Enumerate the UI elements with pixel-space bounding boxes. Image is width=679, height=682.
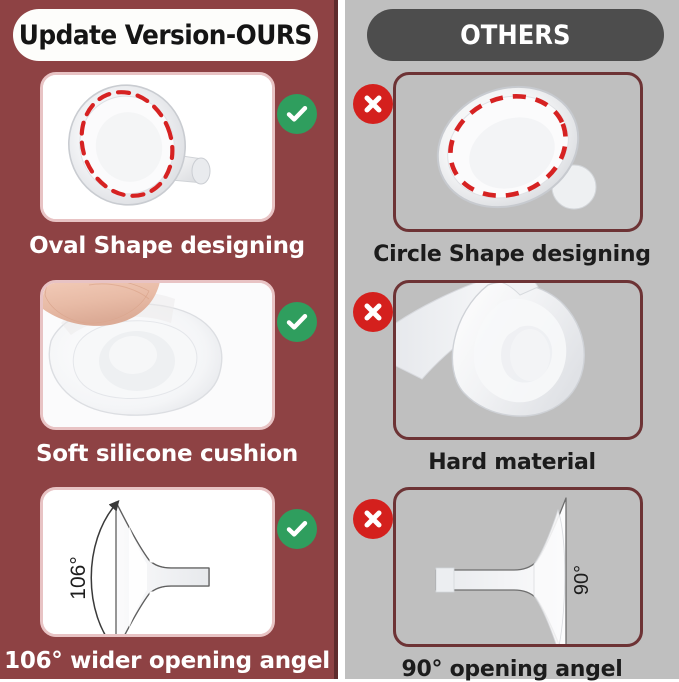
cross-badge (353, 292, 393, 332)
ours-row-1: Oval Shape designing (0, 72, 334, 259)
check-badge (277, 94, 317, 134)
others-card-1-wrap (345, 72, 679, 232)
ours-image-card-3: 106° (40, 487, 275, 637)
others-row-2: Hard material (345, 280, 679, 475)
ours-image-card-2 (40, 280, 275, 430)
others-card-2-wrap (345, 280, 679, 440)
others-header-label: OTHERS (460, 20, 570, 51)
oval-flange-photo (43, 75, 272, 219)
ours-row-3: 106° 106° wider opening angel (0, 487, 334, 674)
check-badge (277, 509, 317, 549)
ours-header-label: Update Version-OURS (19, 20, 312, 51)
others-image-card-2 (393, 280, 643, 440)
ours-card-3-wrap: 106° (0, 487, 334, 637)
ours-header-pill: Update Version-OURS (13, 9, 318, 61)
ours-row-2: Soft silicone cushion (0, 280, 334, 467)
others-header-pill: OTHERS (367, 9, 664, 61)
others-row-1: Circle Shape designing (345, 72, 679, 267)
others-row-3: 90° 90° opening angel (345, 487, 679, 682)
ours-panel: Update Version-OURS (0, 0, 334, 679)
hard-plastic-funnel-photo (396, 283, 640, 437)
ours-card-1-wrap (0, 72, 334, 222)
ours-image-card-1 (40, 72, 275, 222)
ours-caption-3: 106° wider opening angel (0, 648, 334, 674)
hand-pressing-silicone-cushion-photo (43, 283, 272, 427)
panel-divider (334, 0, 345, 679)
others-image-card-1 (393, 72, 643, 232)
others-card-3-wrap: 90° (345, 487, 679, 647)
flange-angle-diagram: 106° (43, 490, 272, 634)
circle-flange-photo (396, 75, 640, 229)
flange-angle-diagram-mirrored: 90° (396, 490, 640, 644)
angle-label: 106° (67, 556, 90, 599)
others-caption-2: Hard material (345, 450, 679, 475)
others-image-card-3: 90° (393, 487, 643, 647)
others-panel: OTHERS (345, 0, 679, 679)
check-badge (277, 302, 317, 342)
ours-caption-2: Soft silicone cushion (0, 441, 334, 467)
cross-badge (353, 499, 393, 539)
comparison-infographic: Update Version-OURS (0, 0, 679, 679)
cross-badge (353, 84, 393, 124)
angle-label: 90° (571, 565, 593, 595)
ours-caption-1: Oval Shape designing (0, 233, 334, 259)
others-caption-3: 90° opening angel (345, 657, 679, 682)
others-caption-1: Circle Shape designing (345, 242, 679, 267)
ours-card-2-wrap (0, 280, 334, 430)
